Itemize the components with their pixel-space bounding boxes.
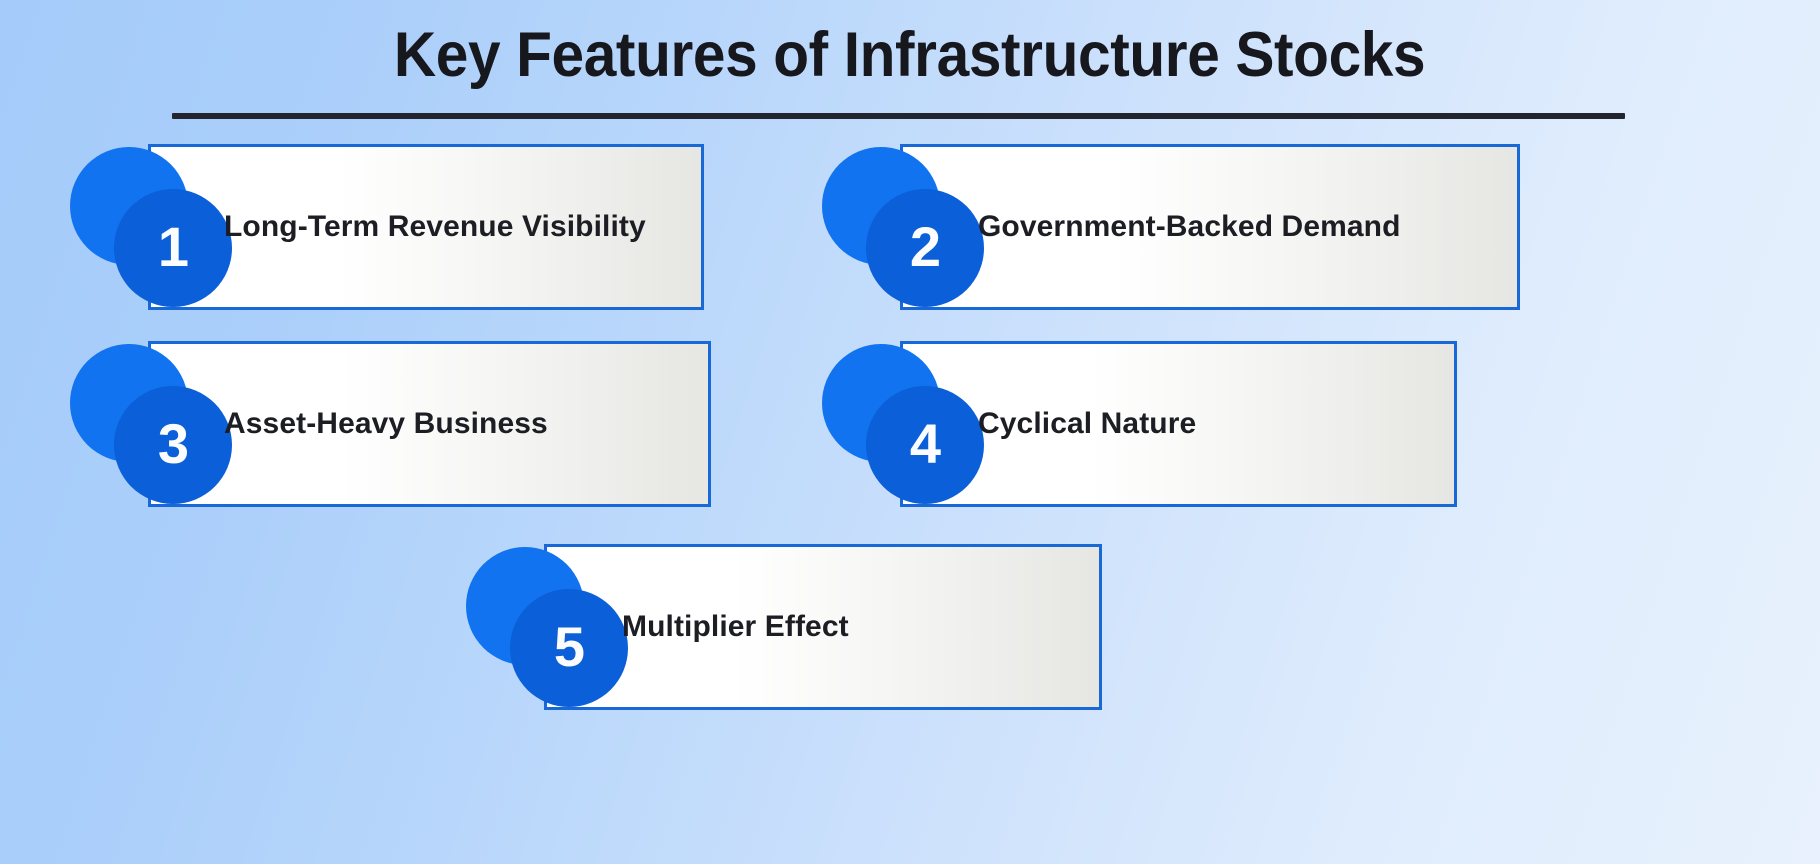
feature-card-2[interactable]: 2 Government-Backed Demand	[822, 144, 1520, 310]
feature-card-3[interactable]: 3 Asset-Heavy Business	[70, 341, 711, 507]
feature-card-5-badge: 5	[510, 589, 628, 707]
feature-card-5-label: Multiplier Effect	[622, 544, 849, 710]
page-title-text: Key Features of Infrastructure Stocks	[394, 22, 1425, 89]
feature-card-3-badge: 3	[114, 386, 232, 504]
title-underline-divider	[172, 113, 1625, 119]
feature-card-4[interactable]: 4 Cyclical Nature	[822, 341, 1457, 507]
feature-card-1-badge: 1	[114, 189, 232, 307]
feature-card-2-number: 2	[910, 219, 940, 275]
feature-card-3-label: Asset-Heavy Business	[224, 341, 548, 507]
feature-card-4-number: 4	[910, 416, 940, 472]
feature-card-1-number: 1	[158, 219, 188, 275]
feature-card-2-label: Government-Backed Demand	[978, 144, 1401, 310]
feature-card-5[interactable]: 5 Multiplier Effect	[466, 544, 1102, 710]
infographic-canvas: Key Features of Infrastructure Stocks 1 …	[0, 0, 1820, 864]
feature-card-4-label: Cyclical Nature	[978, 341, 1196, 507]
feature-card-5-number: 5	[554, 619, 584, 675]
feature-card-1[interactable]: 1 Long-Term Revenue Visibility	[70, 144, 704, 310]
feature-card-4-badge: 4	[866, 386, 984, 504]
feature-card-3-number: 3	[158, 416, 188, 472]
page-title: Key Features of Infrastructure Stocks	[0, 22, 1820, 89]
feature-card-2-badge: 2	[866, 189, 984, 307]
feature-card-1-label: Long-Term Revenue Visibility	[224, 144, 646, 310]
